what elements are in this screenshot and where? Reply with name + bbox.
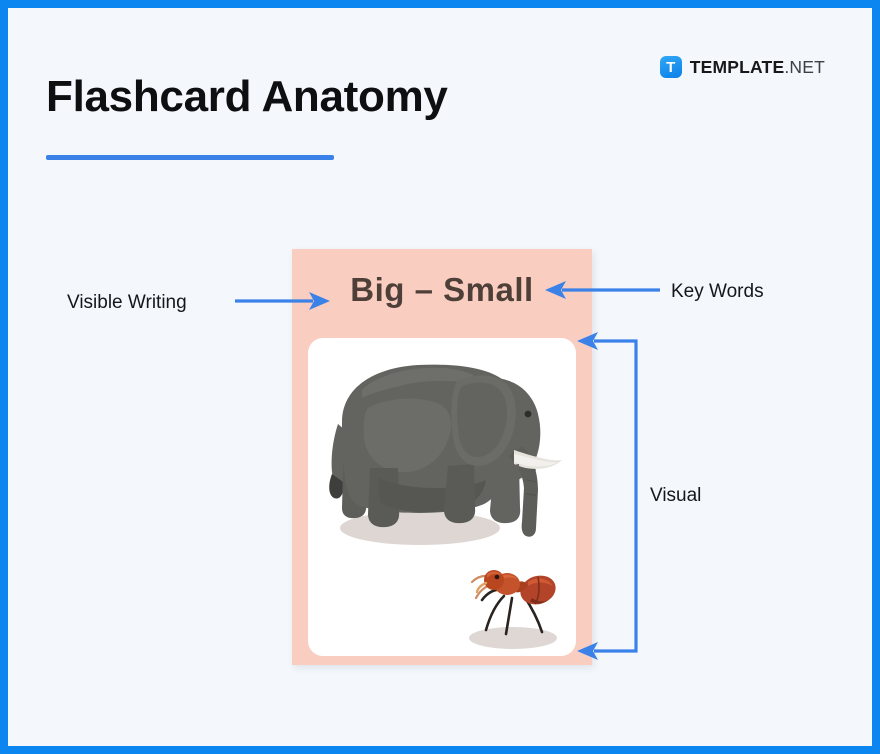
- annotation-label-key-words: Key Words: [671, 281, 764, 303]
- brand-name: TEMPLATE.NET: [690, 57, 825, 78]
- brand-name-bold: TEMPLATE: [690, 57, 785, 77]
- template-net-icon: T: [660, 56, 682, 78]
- page-title: Flashcard Anatomy: [46, 72, 448, 122]
- ant-illustration: [469, 570, 559, 649]
- flashcard-image-panel: [308, 338, 576, 656]
- arrow-key-words: [542, 280, 660, 300]
- brand-logo: T TEMPLATE.NET: [660, 56, 825, 78]
- brand-name-light: .NET: [784, 57, 825, 77]
- page-canvas: T TEMPLATE.NET Flashcard Anatomy Big – S…: [8, 8, 872, 746]
- title-underline-rule: [46, 155, 334, 160]
- elephant-illustration: [329, 365, 562, 545]
- annotation-label-visible-writing: Visible Writing: [67, 292, 187, 314]
- flashcard: Big – Small: [292, 249, 592, 665]
- arrow-visible-writing: [235, 291, 331, 311]
- arrow-bracket-visual: [574, 331, 654, 661]
- flashcard-illustration: [308, 338, 576, 656]
- annotation-label-visual: Visual: [650, 485, 701, 507]
